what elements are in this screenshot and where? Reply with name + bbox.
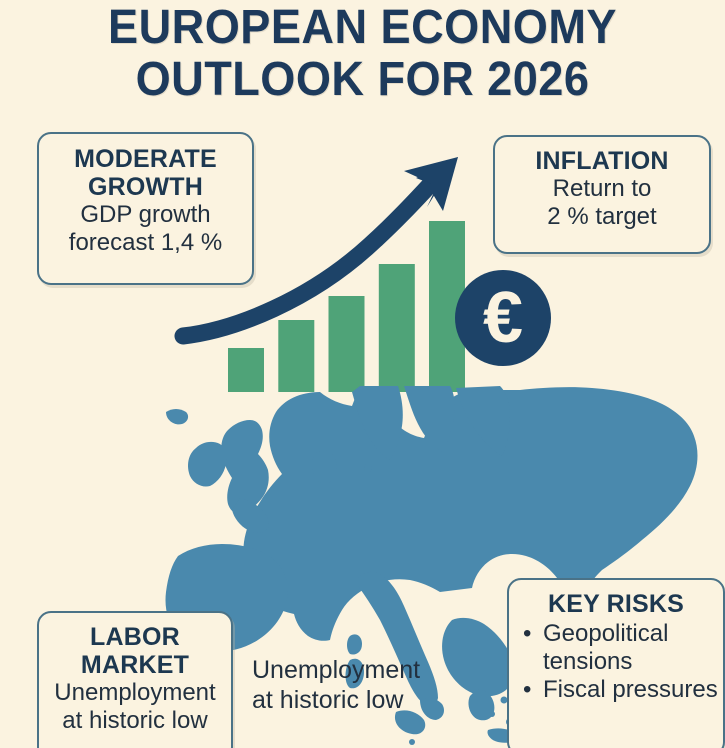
center-caption-line-1: Unemployment: [252, 655, 462, 685]
card-labor-body-line-2: at historic low: [39, 707, 231, 735]
card-labor-market[interactable]: LABOR MARKET Unemployment at historic lo…: [37, 611, 233, 748]
euro-icon: €: [455, 270, 551, 366]
card-inflation-body-line-2: 2 % target: [495, 203, 709, 231]
chart-bar-4: [379, 264, 415, 392]
chart-bar-1: [228, 348, 264, 392]
card-growth-body-line-2: forecast 1,4 %: [39, 229, 252, 257]
card-inflation[interactable]: INFLATION Return to 2 % target: [493, 135, 711, 254]
card-labor-heading-line-2: MARKET: [39, 651, 231, 679]
card-growth-body-line-1: GDP growth: [39, 201, 252, 229]
card-labor-body-line-1: Unemployment: [39, 679, 231, 707]
key-risks-list: Geopolitical tensions Fiscal pressures: [509, 620, 723, 704]
center-caption-line-2: at historic low: [252, 685, 462, 715]
card-key-risks[interactable]: KEY RISKS Geopolitical tensions Fiscal p…: [507, 578, 725, 748]
list-item: Geopolitical tensions: [523, 620, 723, 676]
chart-bar-2: [278, 320, 314, 392]
list-item: Fiscal pressures: [523, 676, 723, 704]
infographic-canvas: EUROPEAN ECONOMY OUTLOOK FOR 2026: [0, 0, 725, 748]
card-moderate-growth[interactable]: MODERATE GROWTH GDP growth forecast 1,4 …: [37, 132, 254, 285]
card-growth-heading-line-1: MODERATE: [39, 145, 252, 173]
chart-bar-3: [329, 296, 365, 392]
center-caption: Unemployment at historic low: [252, 655, 462, 715]
card-inflation-heading: INFLATION: [495, 147, 709, 175]
card-labor-heading-line-1: LABOR: [39, 623, 231, 651]
card-inflation-body-line-1: Return to: [495, 175, 709, 203]
card-risks-heading: KEY RISKS: [509, 590, 723, 618]
card-growth-heading-line-2: GROWTH: [39, 173, 252, 201]
